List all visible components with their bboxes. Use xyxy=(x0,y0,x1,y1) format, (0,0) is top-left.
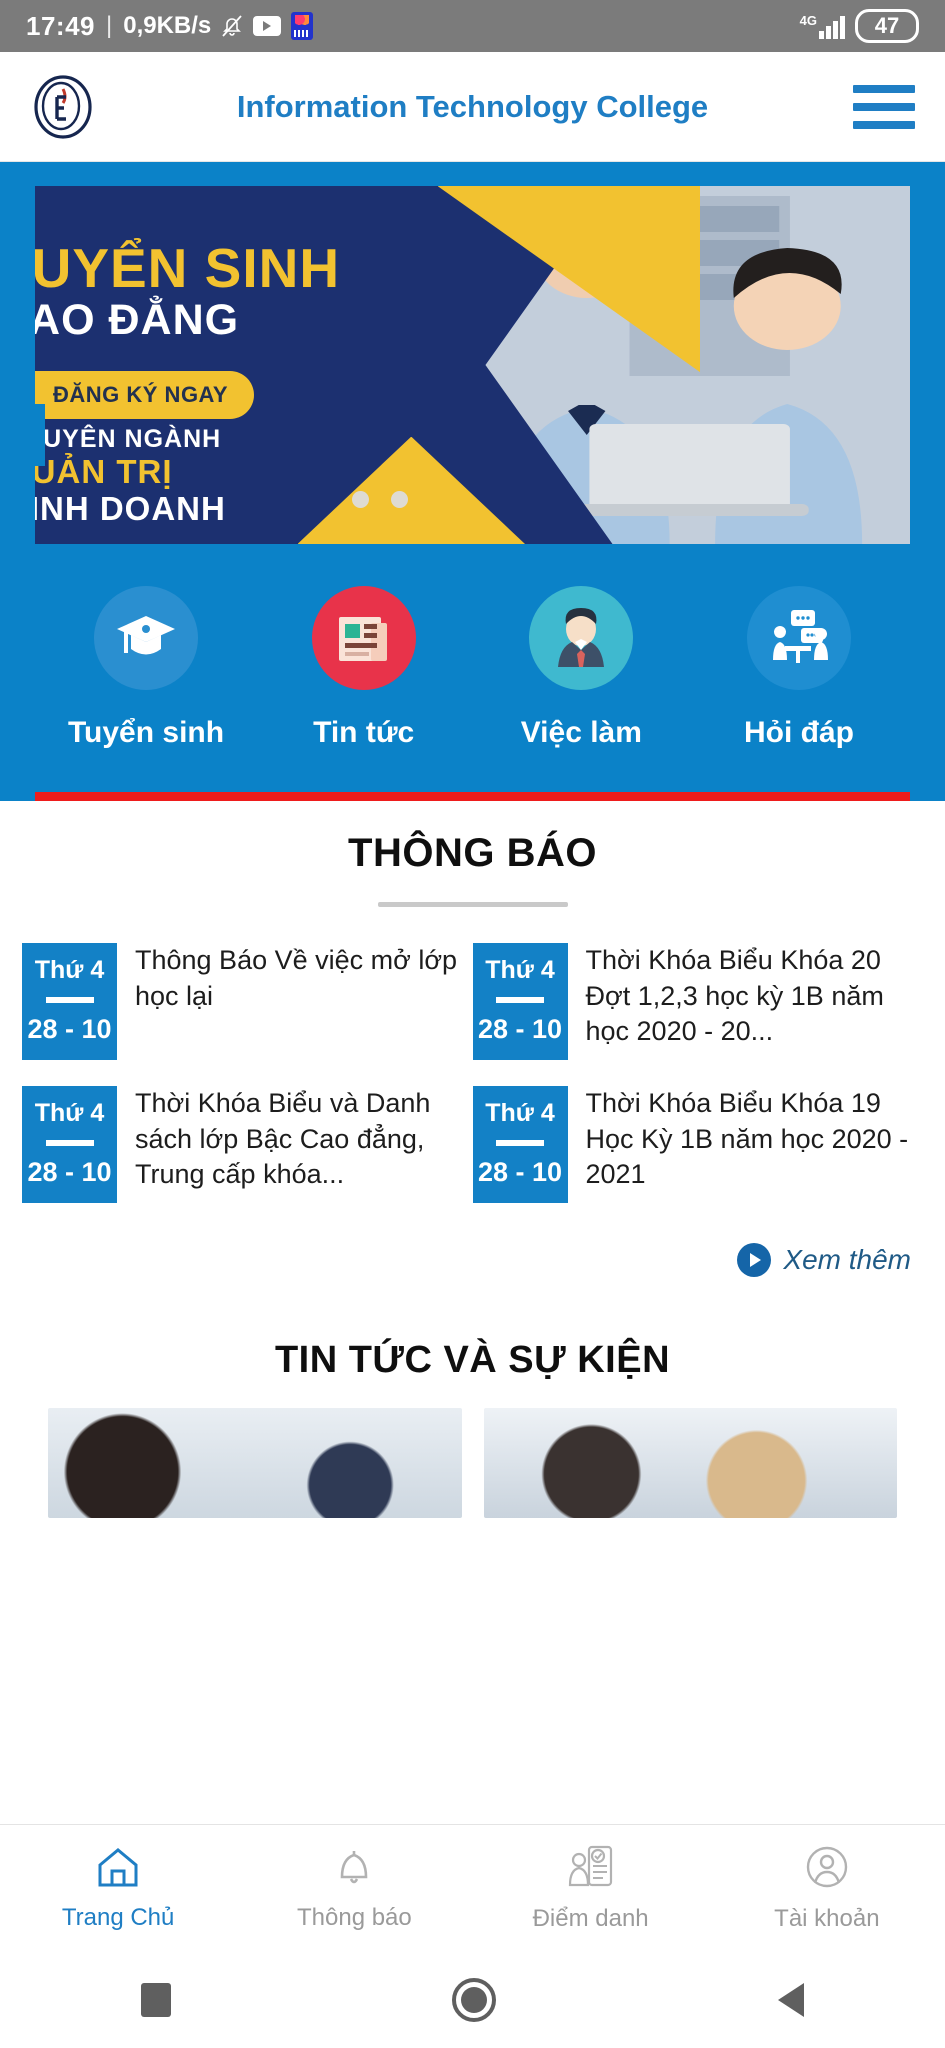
college-logo-icon xyxy=(30,74,96,140)
newspaper-icon xyxy=(312,586,416,690)
announcement-date: 28 - 10 xyxy=(473,1158,568,1188)
bottom-nav-label: Điểm danh xyxy=(533,1905,649,1933)
promo-banner-carousel[interactable]: TUYỂN SINH CAO ĐẲNG ĐĂNG KÝ NGAY CHUYÊN … xyxy=(35,186,910,544)
bell-icon xyxy=(332,1845,376,1894)
youtube-icon xyxy=(253,16,281,36)
bottom-nav-thong-bao[interactable]: Thông báo xyxy=(236,1845,472,1932)
quick-link-label: Việc làm xyxy=(521,716,642,750)
back-triangle-icon[interactable] xyxy=(778,1983,804,2017)
news-thumbnail-row xyxy=(0,1382,945,1518)
announcement-item[interactable]: Thứ 4 28 - 10 Thời Khóa Biểu Khóa 19 Học… xyxy=(473,1086,924,1229)
announcement-date-badge: Thứ 4 28 - 10 xyxy=(473,943,568,1060)
app-header: Information Technology College xyxy=(0,52,945,162)
announcement-title: Thông Báo Về việc mở lớp học lại xyxy=(135,943,459,1014)
quick-link-label: Tin tức xyxy=(313,716,414,750)
chat-meeting-icon xyxy=(747,586,851,690)
music-app-icon xyxy=(291,12,313,40)
bottom-nav-label: Trang Chủ xyxy=(62,1904,175,1932)
quick-link-label: Tuyển sinh xyxy=(68,716,224,750)
announcement-date: 28 - 10 xyxy=(22,1158,117,1188)
quick-link-hoi-dap[interactable]: Hỏi đáp xyxy=(696,586,902,750)
badge-separator xyxy=(496,997,544,1003)
quick-link-tuyen-sinh[interactable]: Tuyển sinh xyxy=(43,586,249,750)
carousel-dot-1[interactable] xyxy=(352,491,369,508)
announcement-title: Thời Khóa Biểu và Danh sách lớp Bậc Cao … xyxy=(135,1086,459,1193)
account-icon xyxy=(804,1844,850,1895)
announcement-item[interactable]: Thứ 4 28 - 10 Thông Báo Về việc mở lớp h… xyxy=(22,943,473,1086)
status-separator: | xyxy=(106,12,112,40)
announcement-weekday: Thứ 4 xyxy=(473,957,568,985)
status-bar-left: 17:49 | 0,9KB/s xyxy=(26,11,313,42)
news-thumbnail-1[interactable] xyxy=(48,1408,462,1518)
bell-mute-icon xyxy=(221,14,243,38)
home-icon xyxy=(94,1845,142,1894)
bottom-nav-label: Tài khoản xyxy=(774,1905,879,1933)
banner-line-4: QUẢN TRỊ xyxy=(35,454,226,491)
android-status-bar: 17:49 | 0,9KB/s 4G 47 xyxy=(0,0,945,52)
blue-content-area: TUYỂN SINH CAO ĐẲNG ĐĂNG KÝ NGAY CHUYÊN … xyxy=(0,162,945,801)
checklist-icon xyxy=(567,1844,615,1895)
badge-separator xyxy=(496,1140,544,1146)
banner-headline-group: TUYỂN SINH CAO ĐẲNG ĐĂNG KÝ NGAY xyxy=(35,240,340,419)
network-type-label: 4G xyxy=(800,14,817,27)
news-thumbnail-2[interactable] xyxy=(484,1408,898,1518)
signal-bars-icon: 4G xyxy=(800,13,845,39)
bottom-nav-diem-danh[interactable]: Điểm danh xyxy=(473,1844,709,1933)
announcement-weekday: Thứ 4 xyxy=(22,957,117,985)
announcement-title: Thời Khóa Biểu Khóa 20 Đợt 1,2,3 học kỳ … xyxy=(586,943,910,1050)
announcement-item[interactable]: Thứ 4 28 - 10 Thời Khóa Biểu và Danh sác… xyxy=(22,1086,473,1229)
quick-link-label: Hỏi đáp xyxy=(744,716,854,750)
announcement-date-badge: Thứ 4 28 - 10 xyxy=(473,1086,568,1203)
android-navigation-bar xyxy=(0,1952,945,2048)
red-divider xyxy=(35,792,910,801)
bottom-nav-label: Thông báo xyxy=(297,1904,412,1932)
see-more-link[interactable]: Xem thêm xyxy=(0,1229,945,1277)
banner-line-1: TUYỂN SINH xyxy=(35,240,340,296)
announcement-date: 28 - 10 xyxy=(473,1015,568,1045)
carousel-dots[interactable] xyxy=(352,491,408,508)
bottom-navigation-bar: Trang Chủ Thông báo xyxy=(0,1824,945,1952)
status-bar-right: 4G 47 xyxy=(800,9,919,43)
network-speed: 0,9KB/s xyxy=(123,12,211,40)
bottom-nav-trang-chu[interactable]: Trang Chủ xyxy=(0,1845,236,1932)
graduation-cap-icon xyxy=(94,586,198,690)
announcement-item[interactable]: Thứ 4 28 - 10 Thời Khóa Biểu Khóa 20 Đợt… xyxy=(473,943,924,1086)
hamburger-menu-icon[interactable] xyxy=(853,85,915,129)
status-clock: 17:49 xyxy=(26,11,95,42)
announcement-weekday: Thứ 4 xyxy=(22,1100,117,1128)
carousel-dot-2[interactable] xyxy=(391,491,408,508)
announcement-weekday: Thứ 4 xyxy=(473,1100,568,1128)
phone-screen: 17:49 | 0,9KB/s 4G 47 xyxy=(0,0,945,2048)
banner-line-2: CAO ĐẲNG xyxy=(35,298,340,343)
see-more-label: Xem thêm xyxy=(783,1244,911,1276)
banner-major-group: CHUYÊN NGÀNH QUẢN TRỊ KINH DOANH xyxy=(35,425,226,528)
announcements-section: THÔNG BÁO Thứ 4 28 - 10 Thông Báo Về việ… xyxy=(0,801,945,1518)
home-circle-icon[interactable] xyxy=(452,1978,496,2022)
quick-links-row: Tuyển sinh Tin tức xyxy=(35,544,910,758)
badge-separator xyxy=(46,997,94,1003)
announcement-date-badge: Thứ 4 28 - 10 xyxy=(22,943,117,1060)
quick-link-tin-tuc[interactable]: Tin tức xyxy=(261,586,467,750)
battery-level: 47 xyxy=(855,9,919,43)
badge-separator xyxy=(46,1140,94,1146)
news-section-title: TIN TỨC VÀ SỰ KIỆN xyxy=(0,1277,945,1382)
banner-line-3: CHUYÊN NGÀNH xyxy=(35,425,226,454)
banner-line-5: KINH DOANH xyxy=(35,491,226,528)
recents-square-icon[interactable] xyxy=(141,1983,171,2017)
banner-left-strip xyxy=(35,404,45,466)
banner-register-button[interactable]: ĐĂNG KÝ NGAY xyxy=(35,371,254,419)
bottom-nav-tai-khoan[interactable]: Tài khoản xyxy=(709,1844,945,1933)
businessman-icon xyxy=(529,586,633,690)
quick-link-viec-lam[interactable]: Việc làm xyxy=(478,586,684,750)
announcement-title: Thời Khóa Biểu Khóa 19 Học Kỳ 1B năm học… xyxy=(586,1086,910,1193)
announcements-list: Thứ 4 28 - 10 Thông Báo Về việc mở lớp h… xyxy=(0,907,945,1229)
play-circle-icon xyxy=(737,1243,771,1277)
announcement-date-badge: Thứ 4 28 - 10 xyxy=(22,1086,117,1203)
announcements-title: THÔNG BÁO xyxy=(0,831,945,876)
announcement-date: 28 - 10 xyxy=(22,1015,117,1045)
page-title: Information Technology College xyxy=(0,89,945,125)
